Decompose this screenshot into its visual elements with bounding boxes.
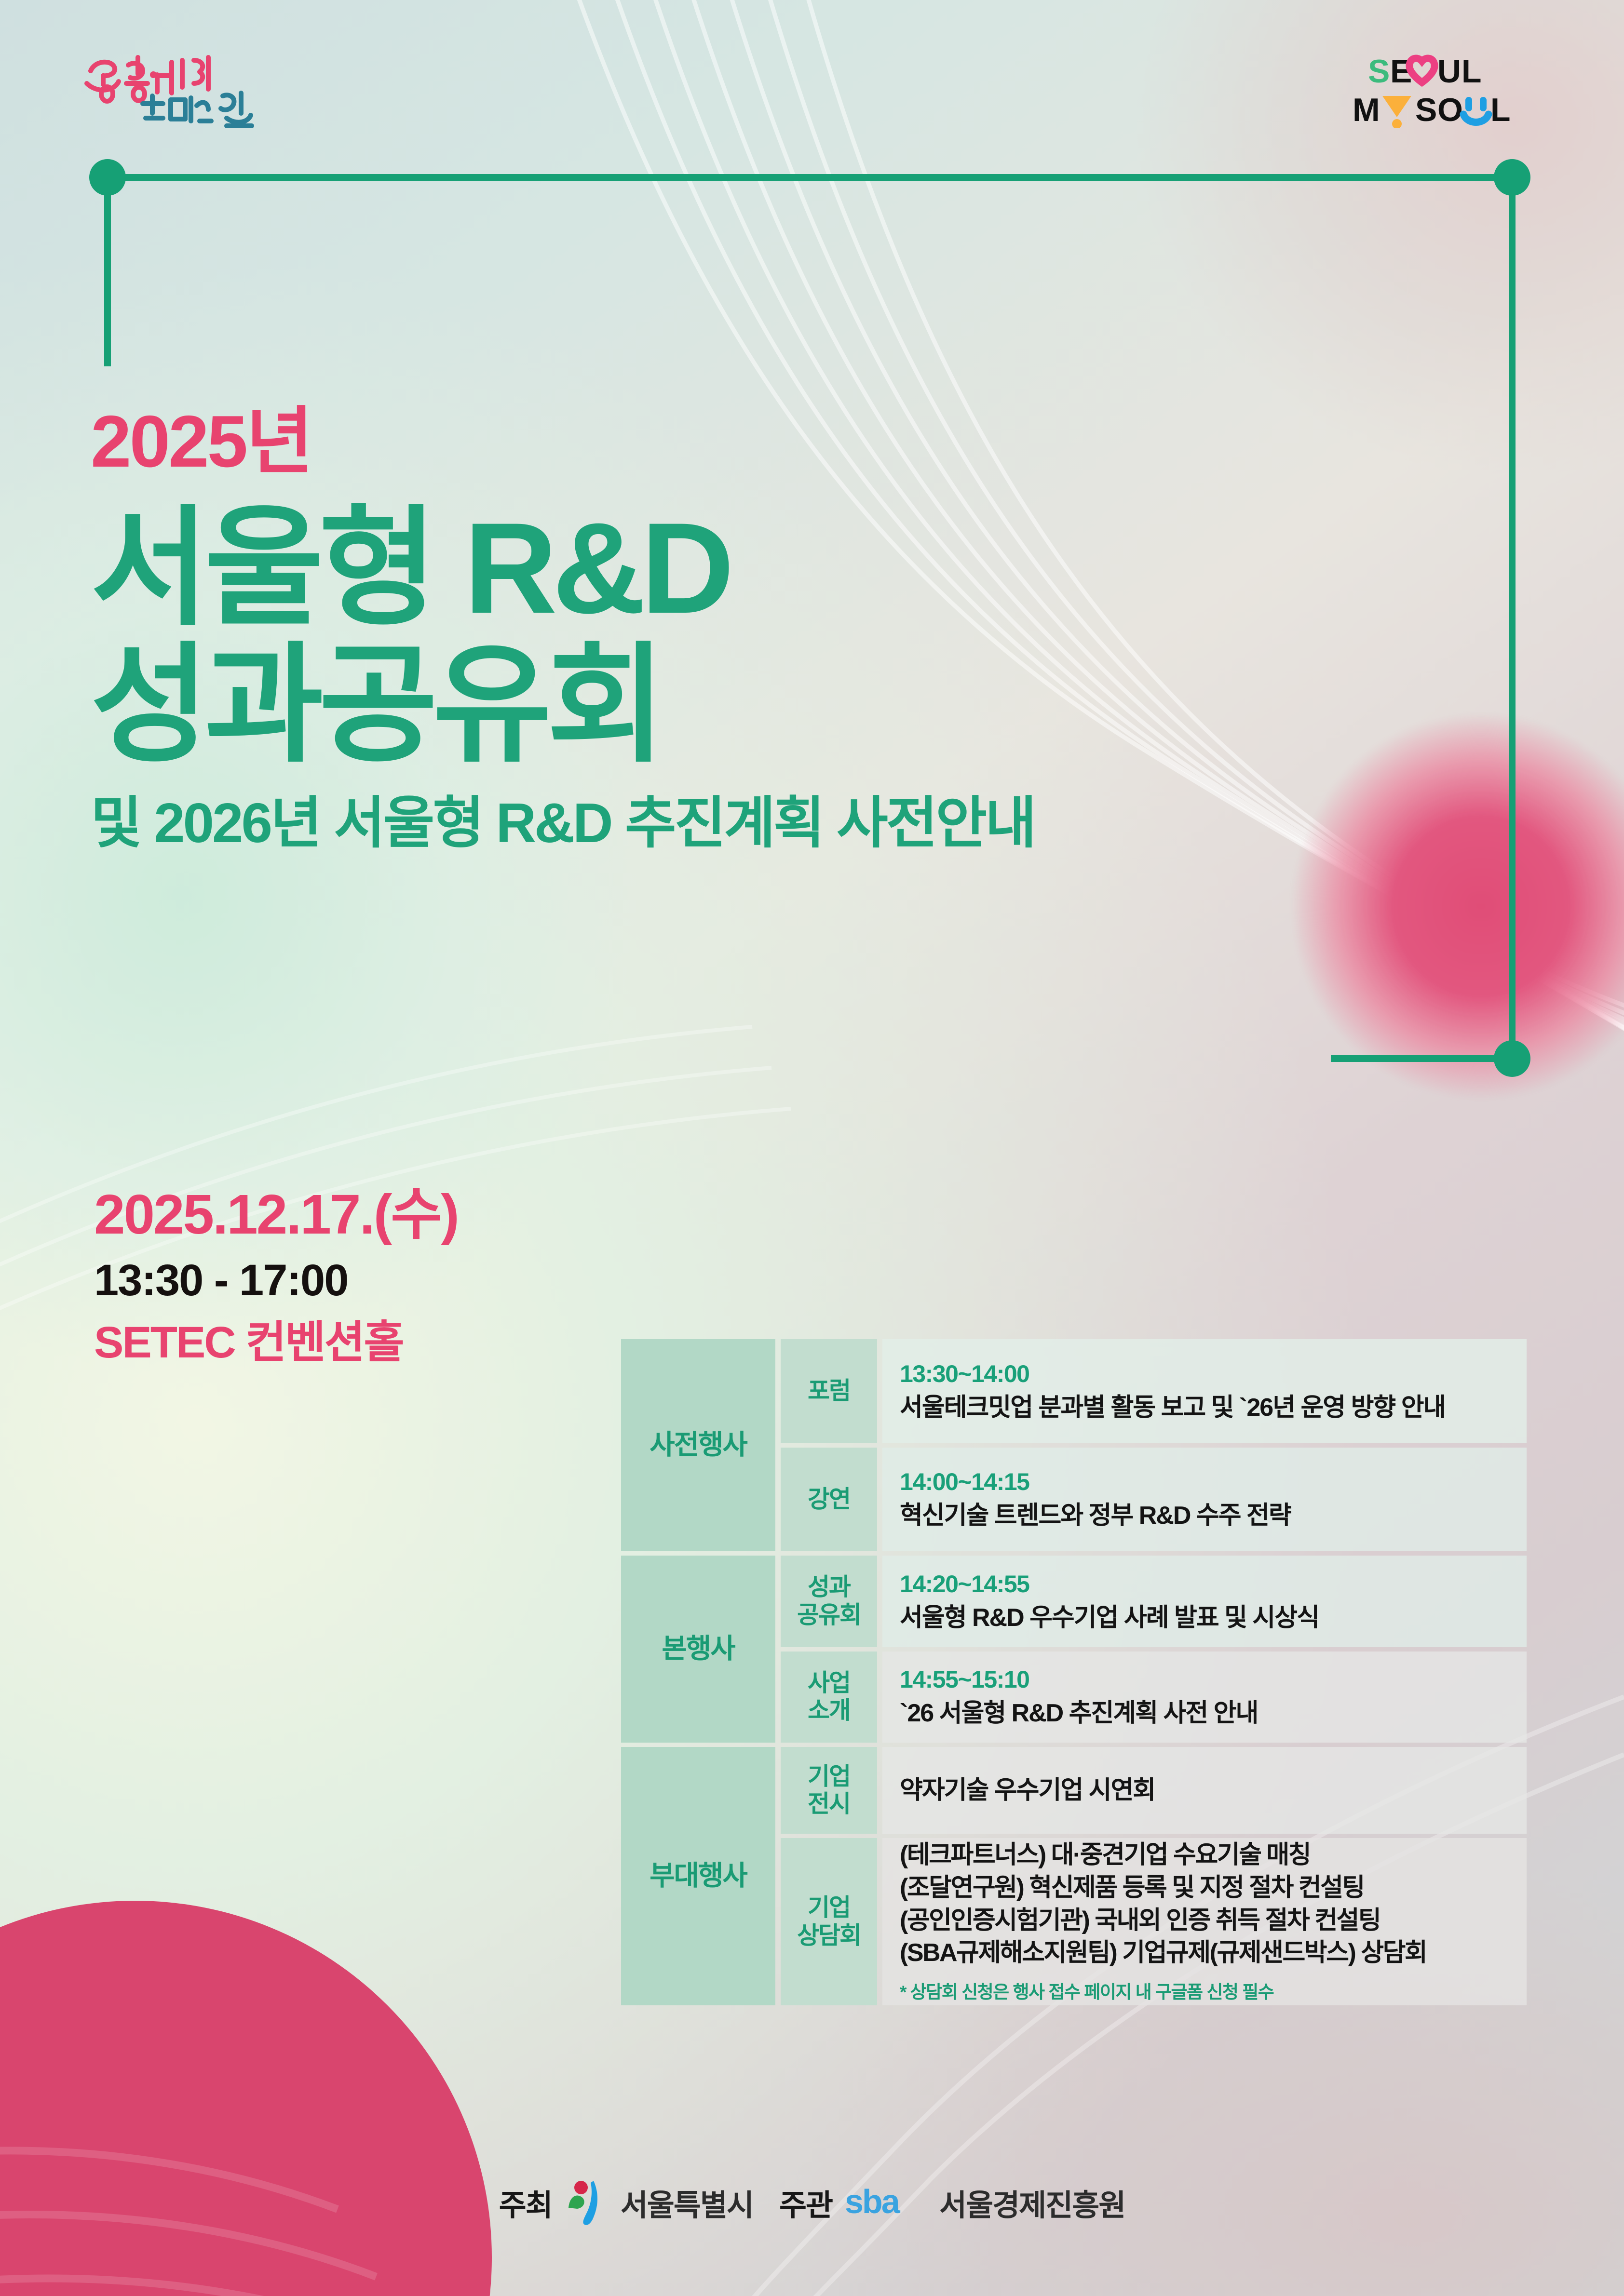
list-item: (테크파트너스) 대·중견기업 수요기술 매칭 (900, 1840, 1527, 1871)
schedule-subcategory-label: 기업상담회 (781, 1838, 877, 2005)
schedule-time: 13:30~14:00 (900, 1360, 1527, 1388)
schedule-category-label: 사전행사 (621, 1339, 775, 1551)
schedule-table: 사전행사 포럼 13:30~14:00 서울테크밋업 분과별 활동 보고 및 `… (621, 1339, 1527, 2010)
schedule-description: 혁신기술 트렌드와 정부 R&D 수주 전략 (900, 1501, 1527, 1531)
host-name: 서울특별시 (621, 2181, 753, 2224)
schedule-category-label: 부대행사 (621, 1747, 775, 2005)
schedule-group-side-event: 부대행사 기업전시 약자기술 우수기업 시연회 기업상담회 (테크파트너스) 대… (621, 1747, 1527, 2005)
schedule-subcategory-label: 성과공유회 (781, 1556, 877, 1647)
schedule-description: 서울테크밋업 분과별 활동 보고 및 `26년 운영 방향 안내 (900, 1393, 1527, 1423)
svg-text:L: L (1462, 53, 1482, 90)
schedule-group-main-event: 본행사 성과공유회 14:20~14:55 서울형 R&D 우수기업 사례 발표… (621, 1556, 1527, 1743)
table-row: 성과공유회 14:20~14:55 서울형 R&D 우수기업 사례 발표 및 시… (781, 1556, 1527, 1647)
schedule-subcategory-label: 사업소개 (781, 1652, 877, 1743)
svg-text:L: L (1490, 92, 1511, 128)
exclamation-triangle-icon (1382, 96, 1411, 128)
event-details-block: 2025.12.17.(수) 13:30 - 17:00 SETEC 컨벤션홀 (94, 1183, 673, 1370)
title-line-2: 성과공유회 (91, 636, 1344, 773)
svg-text:O: O (1437, 92, 1463, 128)
schedule-detail-cell: 13:30~14:00 서울테크밋업 분과별 활동 보고 및 `26년 운영 방… (882, 1339, 1527, 1443)
page-subtitle: 및 2026년 서울형 R&D 추진계획 사전안내 (91, 792, 1344, 854)
seoul-city-brand-logo (82, 46, 289, 137)
event-date: 2025.12.17.(수) (94, 1183, 673, 1246)
svg-text:S: S (1415, 92, 1437, 128)
organizer-label: 주관 (779, 2181, 832, 2224)
schedule-detail-cell: 약자기술 우수기업 시연회 (882, 1747, 1527, 1834)
organizer-group: 주관 sba 서울경제진흥원 (779, 2181, 1125, 2224)
sba-logo-icon: sba (845, 2183, 927, 2222)
seoul-city-emblem-icon (565, 2178, 608, 2227)
schedule-time: 14:20~14:55 (900, 1570, 1527, 1598)
schedule-subcategory-label: 기업전시 (781, 1747, 877, 1834)
schedule-detail-cell: (테크파트너스) 대·중견기업 수요기술 매칭 (조달연구원) 혁신제품 등록 … (882, 1838, 1527, 2005)
schedule-category-label: 본행사 (621, 1556, 775, 1743)
table-row: 기업상담회 (테크파트너스) 대·중견기업 수요기술 매칭 (조달연구원) 혁신… (781, 1838, 1527, 2005)
heart-icon (1409, 58, 1435, 82)
list-item: (공인인증시험기관) 국내외 인증 취득 절차 컨설팅 (900, 1906, 1527, 1936)
table-row: 포럼 13:30~14:00 서울테크밋업 분과별 활동 보고 및 `26년 운… (781, 1339, 1527, 1443)
headline-block: 2025년 서울형 R&D 성과공유회 및 2026년 서울형 R&D 추진계획… (91, 405, 1344, 854)
svg-text:M: M (1353, 92, 1380, 128)
footer-organizers: 주최 서울특별시 주관 sba 서울경제진흥원 (0, 2178, 1624, 2227)
schedule-subcategory-label: 포럼 (781, 1339, 877, 1443)
list-item: (조달연구원) 혁신제품 등록 및 지정 절차 컨설팅 (900, 1873, 1527, 1904)
host-label: 주최 (499, 2181, 552, 2224)
seoul-my-soul-logo: S E U L M S O L (1352, 51, 1540, 128)
schedule-description: 약자기술 우수기업 시연회 (900, 1775, 1527, 1805)
organizer-name: 서울경제진흥원 (939, 2181, 1125, 2224)
schedule-group-pre-event: 사전행사 포럼 13:30~14:00 서울테크밋업 분과별 활동 보고 및 `… (621, 1339, 1527, 1551)
consultation-item-list: (테크파트너스) 대·중견기업 수요기술 매칭 (조달연구원) 혁신제품 등록 … (900, 1840, 1527, 1969)
list-item: (SBA규제해소지원팀) 기업규제(규제샌드박스) 상담회 (900, 1938, 1527, 1969)
schedule-footnote: * 상담회 신청은 행사 접수 페이지 내 구글폼 신청 필수 (900, 1977, 1527, 2003)
schedule-description: `26 서울형 R&D 추진계획 사전 안내 (900, 1698, 1527, 1728)
svg-text:sba: sba (845, 2183, 901, 2220)
schedule-subcategory-label: 강연 (781, 1448, 877, 1552)
svg-text:S: S (1368, 53, 1390, 90)
schedule-detail-cell: 14:55~15:10 `26 서울형 R&D 추진계획 사전 안내 (882, 1652, 1527, 1743)
page-title: 서울형 R&D 성과공유회 (91, 499, 1344, 773)
table-row: 사업소개 14:55~15:10 `26 서울형 R&D 추진계획 사전 안내 (781, 1652, 1527, 1743)
poster-root: S E U L M S O L 20 (0, 0, 1624, 2296)
table-row: 기업전시 약자기술 우수기업 시연회 (781, 1747, 1527, 1834)
schedule-description: 서울형 R&D 우수기업 사례 발표 및 시상식 (900, 1603, 1527, 1633)
event-venue: SETEC 컨벤션홀 (94, 1315, 673, 1370)
schedule-time: 14:00~14:15 (900, 1468, 1527, 1496)
host-group: 주최 서울특별시 (499, 2178, 753, 2227)
title-line-1: 서울형 R&D (91, 496, 730, 640)
schedule-detail-cell: 14:20~14:55 서울형 R&D 우수기업 사례 발표 및 시상식 (882, 1556, 1527, 1647)
table-row: 강연 14:00~14:15 혁신기술 트렌드와 정부 R&D 수주 전략 (781, 1448, 1527, 1552)
svg-text:U: U (1437, 53, 1461, 90)
schedule-detail-cell: 14:00~14:15 혁신기술 트렌드와 정부 R&D 수주 전략 (882, 1448, 1527, 1552)
schedule-time: 14:55~15:10 (900, 1665, 1527, 1694)
event-year: 2025년 (91, 405, 1344, 478)
event-time: 13:30 - 17:00 (94, 1253, 673, 1308)
smiley-face-icon (1463, 97, 1489, 122)
